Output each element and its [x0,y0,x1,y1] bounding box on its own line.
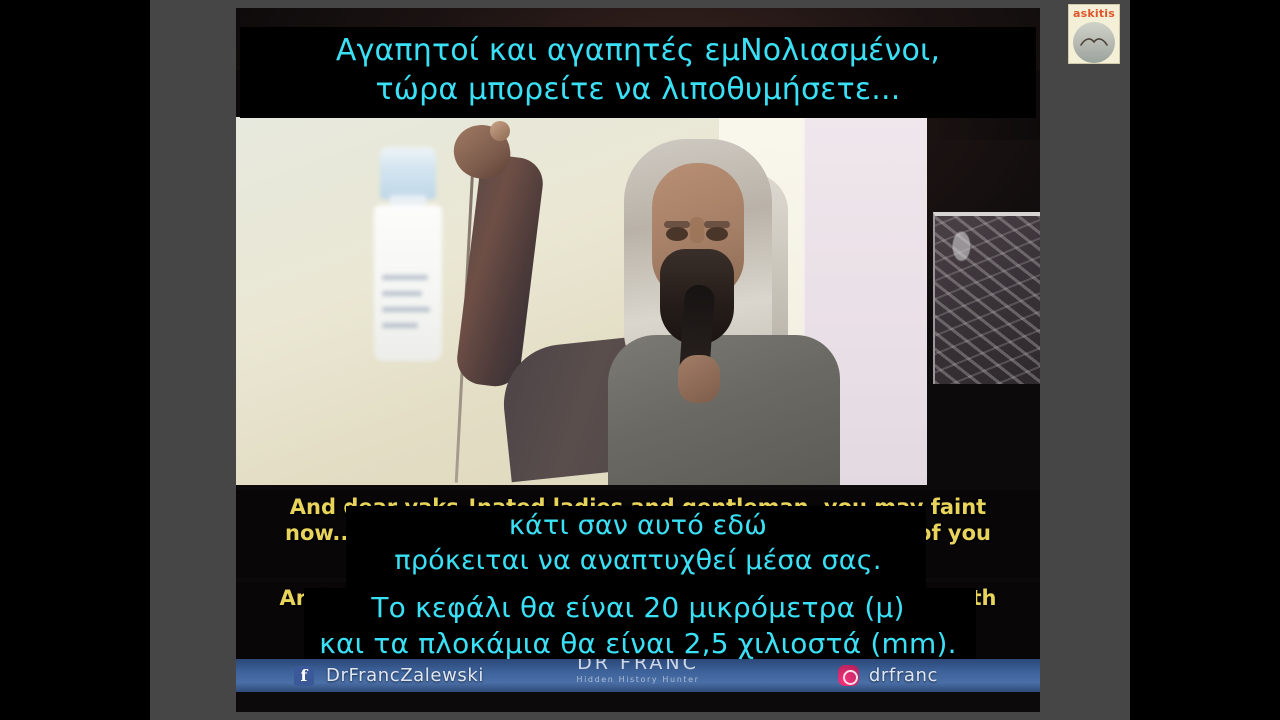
projected-vaccine-vial [372,147,444,361]
social-media-bar: DR FRANC Hidden History Hunter f DrFranc… [236,659,1040,692]
facebook-name: DrFrancZalewski [326,665,484,686]
vial-label-line [382,307,430,312]
greek-subtitle-middle: κάτι σαν αυτό εδώ πρόκειται να αναπτυχθε… [236,508,1040,578]
instagram-icon[interactable] [838,665,859,686]
nose [690,217,704,243]
video-content-area[interactable]: And dear vaks-!nated ladies and gentlema… [236,8,1040,712]
facebook-icon[interactable]: f [294,666,314,686]
mic-holding-hand [678,355,720,403]
watermark-label: askitis [1073,7,1115,20]
eye-right [706,227,728,241]
greek-subtitle-bottom: Το κεφάλι θα είναι 20 μικρόμετρα (μ) και… [236,590,1040,663]
vial-label-line [382,291,422,296]
eye-left [666,227,688,241]
vial-cap [380,147,436,199]
vial-label-line [382,275,428,280]
seagull-icon [1080,37,1108,47]
instagram-name: drfranc [869,665,938,686]
projection-screen [236,117,927,485]
askitis-watermark[interactable]: askitis [1068,4,1120,64]
sem-inset-bottom-icon [933,212,1040,384]
vial-body [374,205,442,361]
watermark-circle [1073,22,1115,63]
greek-subtitle-top: Αγαπητοί και αγαπητές εμΝολιασμένοι, τώρ… [236,31,1040,109]
torso [608,335,840,485]
vial-label-line [382,323,418,328]
instagram-handle[interactable]: drfranc [838,659,938,692]
speaker [604,139,854,485]
thumb [490,121,510,141]
screenshot-stage: And dear vaks-!nated ladies and gentlema… [0,0,1280,720]
facebook-handle[interactable]: f DrFrancZalewski [294,659,484,692]
